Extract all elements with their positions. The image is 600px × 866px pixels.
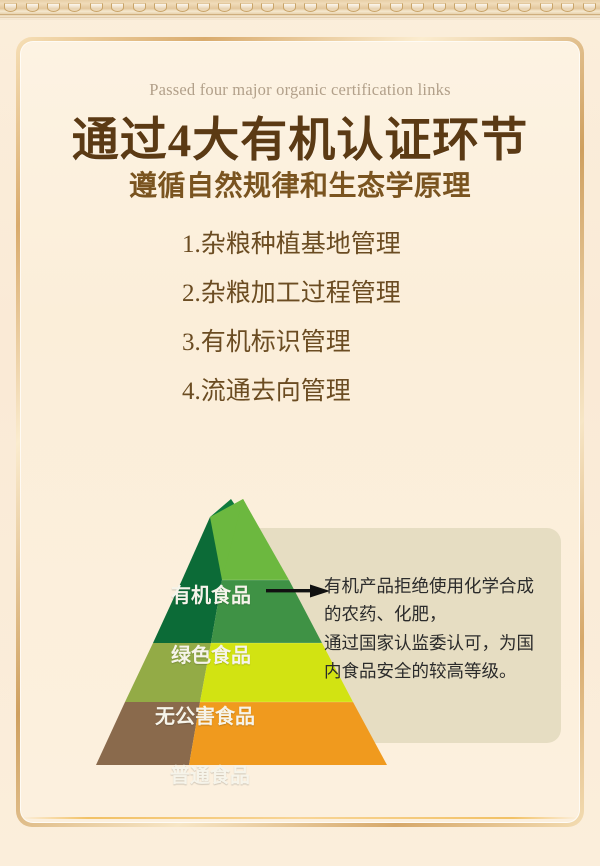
ornament-motif-icon	[454, 3, 467, 12]
ornament-motif-icon	[111, 3, 124, 12]
ornament-motif-icon	[368, 3, 381, 12]
list-item-number: 4.	[182, 378, 201, 405]
callout-arrow-icon	[266, 584, 330, 598]
frame-content-area: Passed four major organic certification …	[20, 41, 580, 823]
ornament-motif-icon	[261, 3, 274, 12]
poster-root: Passed four major organic certification …	[0, 0, 600, 866]
ornament-motif-icon	[475, 3, 488, 12]
ornament-motif-icon	[4, 3, 17, 12]
ornament-motif-icon	[154, 3, 167, 12]
callout-line: 内食品安全的较高等级。	[324, 657, 556, 685]
food-safety-pyramid-diagram: 有机食品 绿色食品 无公害食品 普通食品 有机产品拒绝使用化学合成 的农药、化肥…	[21, 477, 580, 807]
pyramid-level-label-pollution-free: 无公害食品	[155, 700, 255, 729]
ornament-motif-icon	[218, 3, 231, 12]
ornament-motif-icon	[133, 3, 146, 12]
ornament-motif-icon	[433, 3, 446, 12]
ornament-motif-icon	[390, 3, 403, 12]
pyramid-level-label-ordinary: 普通食品	[170, 759, 250, 788]
ornament-motif-icon	[90, 3, 103, 12]
list-item-label: 有机标识管理	[201, 328, 351, 356]
callout-line: 通过国家认监委认可，为国	[324, 629, 556, 657]
ornament-motif-icon	[347, 3, 360, 12]
list-item-label: 杂粮种植基地管理	[201, 230, 401, 258]
ornament-motif-row	[0, 1, 600, 13]
page-title: 通过4大有机认证环节	[21, 101, 579, 170]
list-item-label: 流通去向管理	[201, 377, 351, 405]
ornament-motif-icon	[197, 3, 210, 12]
ornament-rule	[0, 17, 600, 18]
list-item: 4.流通去向管理	[21, 379, 579, 404]
callout-line: 有机产品拒绝使用化学合成	[324, 572, 556, 600]
callout-text: 有机产品拒绝使用化学合成 的农药、化肥， 通过国家认监委认可，为国 内食品安全的…	[324, 572, 556, 685]
list-item-number: 2.	[182, 280, 201, 307]
ornament-motif-icon	[583, 3, 596, 12]
list-item-number: 1.	[182, 231, 201, 258]
ornament-motif-icon	[561, 3, 574, 12]
list-item-number: 3.	[182, 329, 201, 356]
ornament-motif-icon	[540, 3, 553, 12]
ornament-motif-icon	[326, 3, 339, 12]
ornament-motif-icon	[304, 3, 317, 12]
list-item: 3.有机标识管理	[21, 330, 579, 355]
certification-step-list: 1.杂粮种植基地管理 2.杂粮加工过程管理 3.有机标识管理 4.流通去向管理	[21, 232, 579, 428]
bottom-accent-rule	[21, 817, 579, 819]
ornament-motif-icon	[518, 3, 531, 12]
ornament-motif-icon	[176, 3, 189, 12]
list-item-label: 杂粮加工过程管理	[201, 279, 401, 307]
ornament-motif-icon	[26, 3, 39, 12]
pyramid-level-label-green: 绿色食品	[171, 639, 251, 668]
list-item: 1.杂粮种植基地管理	[21, 232, 579, 257]
ornament-motif-icon	[283, 3, 296, 12]
eyebrow-text: Passed four major organic certification …	[21, 80, 579, 100]
list-item: 2.杂粮加工过程管理	[21, 281, 579, 306]
ornament-rule	[0, 14, 600, 15]
top-ornament-band	[0, 0, 600, 20]
callout-line: 的农药、化肥，	[324, 600, 556, 628]
ornament-motif-icon	[497, 3, 510, 12]
ornament-motif-icon	[240, 3, 253, 12]
gold-frame: Passed four major organic certification …	[16, 37, 584, 827]
ornament-motif-icon	[68, 3, 81, 12]
page-subtitle: 遵循自然规律和生态学原理	[21, 164, 579, 204]
ornament-motif-icon	[411, 3, 424, 12]
pyramid-level-label-organic: 有机食品	[171, 579, 251, 608]
ornament-motif-icon	[47, 3, 60, 12]
